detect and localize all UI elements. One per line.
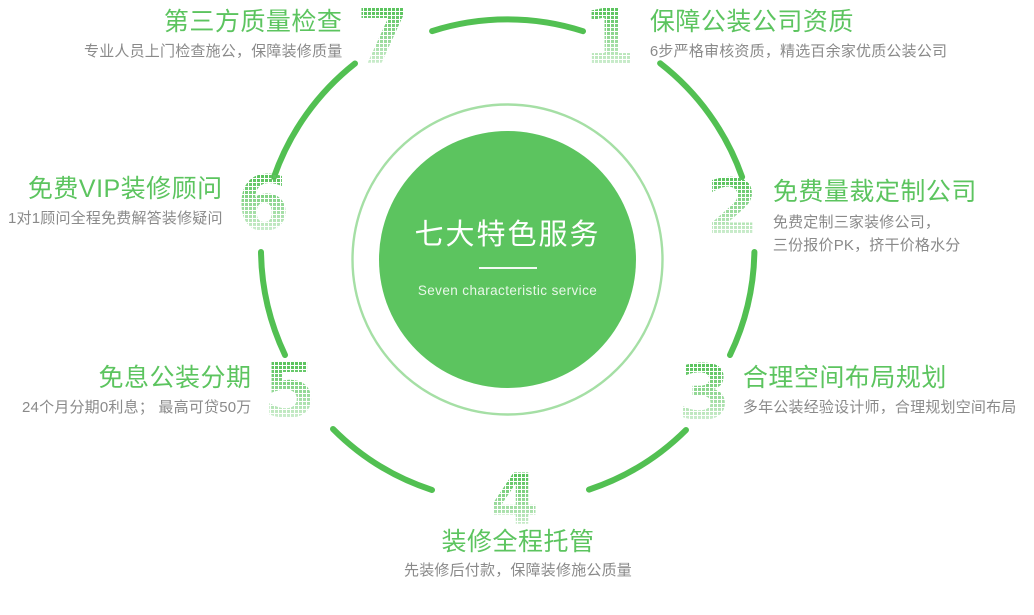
hub-divider xyxy=(479,267,537,269)
service-title-7: 第三方质量检查 xyxy=(164,8,343,38)
arc-segment-left xyxy=(261,252,285,355)
service-title-6: 免费VIP装修顾问 xyxy=(28,175,223,205)
service-item-1[interactable]: 1 保障公装公司资质 6步严格审核资质，精选百余家优质公装公司 xyxy=(583,8,947,71)
service-desc-6: 1对1顾问全程免费解答装修疑问 xyxy=(8,208,223,231)
hub-title: 七大特色服务 xyxy=(414,221,600,250)
service-desc-7: 专业人员上门检查施公，保障装修质量 xyxy=(84,41,342,64)
service-desc-2: 免费定制三家装修公司， xyxy=(773,211,940,234)
service-item-5[interactable]: 5 免息公装分期 24个月分期0利息； 最高可贷50万 xyxy=(22,364,316,425)
service-desc-3: 多年公装经验设计师，合理规划空间布局 xyxy=(743,397,1017,420)
service-item-6[interactable]: 6 免费VIP装修顾问 1对1顾问全程免费解答装修疑问 xyxy=(8,175,290,238)
service-item-4[interactable]: 4 装修全程托管 先装修后付款，保障装修施公质量 xyxy=(404,470,632,583)
center-hub: 七大特色服务 Seven characteristic service xyxy=(379,131,636,388)
service-desc-2-line2: 三份报价PK，挤干价格水分 xyxy=(773,234,961,257)
service-desc-4: 先装修后付款，保障装修施公质量 xyxy=(404,560,632,583)
infographic-canvas: 七大特色服务 Seven characteristic service 1 保障… xyxy=(0,0,1034,615)
hub-subtitle: Seven characteristic service xyxy=(418,283,597,298)
arc-segment-top xyxy=(432,19,583,31)
service-title-5: 免息公装分期 xyxy=(98,364,251,394)
service-number-1: 1 xyxy=(583,4,636,71)
service-number-7: 7 xyxy=(356,4,409,71)
arc-segment-upper-right xyxy=(660,63,742,177)
service-title-2: 免费量裁定制公司 xyxy=(773,178,977,208)
service-desc-5: 24个月分期0利息； 最高可贷50万 xyxy=(22,397,251,420)
service-item-2[interactable]: 2 免费量裁定制公司 免费定制三家装修公司， 三份报价PK，挤干价格水分 xyxy=(706,178,977,257)
service-item-7[interactable]: 7 第三方质量检查 专业人员上门检查施公，保障装修质量 xyxy=(84,8,409,71)
service-title-1: 保障公装公司资质 xyxy=(650,8,854,38)
service-title-3: 合理空间布局规划 xyxy=(743,364,947,394)
service-number-5: 5 xyxy=(263,358,316,425)
service-desc-1: 6步严格审核资质，精选百余家优质公装公司 xyxy=(650,41,947,64)
service-title-4: 装修全程托管 xyxy=(442,528,595,558)
service-number-6: 6 xyxy=(237,171,290,238)
arc-segment-right xyxy=(730,252,754,355)
service-number-4: 4 xyxy=(490,470,539,532)
service-item-3[interactable]: 3 合理空间布局规划 多年公装经验设计师，合理规划空间布局 xyxy=(678,364,1017,427)
service-number-3: 3 xyxy=(678,360,731,427)
arc-segment-upper-left xyxy=(274,64,355,178)
service-number-2: 2 xyxy=(706,174,759,241)
